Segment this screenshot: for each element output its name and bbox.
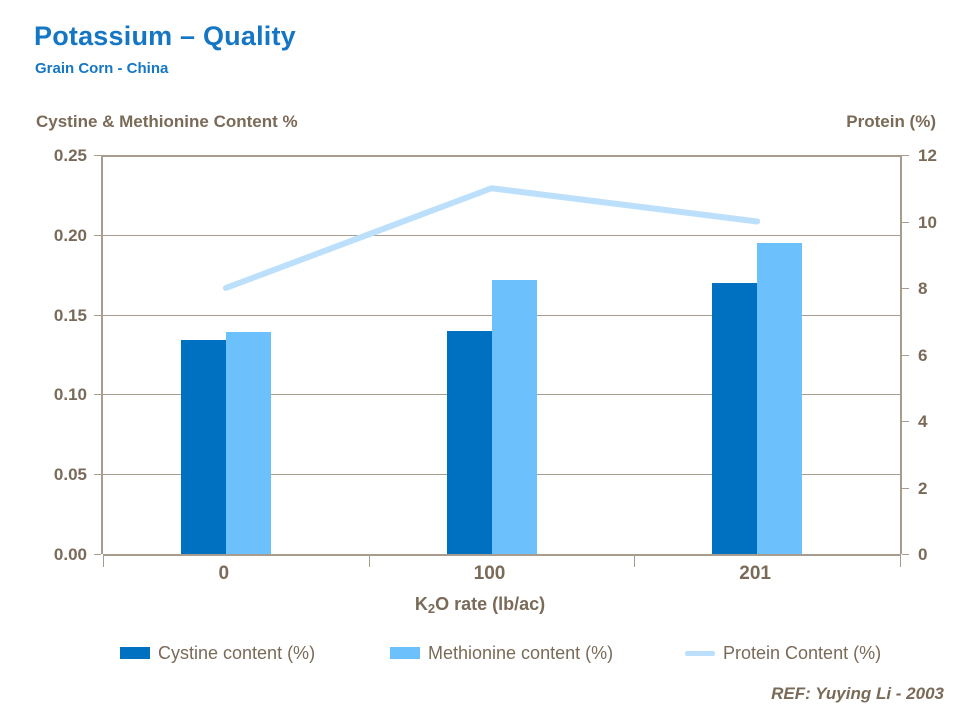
legend-item-2[interactable]: Methionine content (%) [390,640,613,666]
right-axis-tick-label: 4 [918,413,960,430]
left-axis-tick-label: 0.20 [9,227,87,244]
x-axis-tick [900,554,901,567]
left-axis-tick [94,155,101,156]
right-axis-tick-label: 12 [918,147,960,164]
x-axis-category-label: 100 [430,564,550,583]
right-axis-tick [902,488,909,489]
protein-line [226,188,757,288]
left-axis-tick-label: 0.15 [9,307,87,324]
legend-item-1[interactable]: Cystine content (%) [120,640,315,666]
right-axis-tick-label: 6 [918,347,960,364]
legend-item-3[interactable]: Protein Content (%) [685,640,881,666]
right-axis-tick-label: 2 [918,480,960,497]
legend-label: Protein Content (%) [723,643,881,664]
x-axis-title-sub: 2 [428,601,435,616]
right-axis-tick-label: 10 [918,214,960,231]
reference-note: REF: Yuying Li - 2003 [0,684,944,704]
legend-label: Cystine content (%) [158,643,315,664]
left-axis-tick-label: 0.10 [9,386,87,403]
left-axis-tick [94,554,101,555]
right-axis-tick [902,155,909,156]
chart-legend: Cystine content (%)Methionine content (%… [110,640,910,666]
right-axis-tick [902,421,909,422]
x-axis-category-label: 201 [695,564,815,583]
page-subtitle: Grain Corn - China [35,60,168,77]
left-axis-tick [94,474,101,475]
left-axis-tick [94,394,101,395]
legend-label: Methionine content (%) [428,643,613,664]
legend-swatch-line-icon [685,651,715,656]
right-axis-tick-label: 0 [918,546,960,563]
right-axis-tick [902,355,909,356]
right-axis-tick-label: 8 [918,280,960,297]
page-title: Potassium – Quality [34,21,296,52]
x-axis-tick [369,554,370,567]
right-axis-title: Protein (%) [760,112,936,132]
x-axis-title-pre: K [415,594,428,614]
x-axis-title-post: O rate (lb/ac) [435,594,545,614]
left-axis-tick-label: 0.25 [9,147,87,164]
right-axis-tick [902,554,909,555]
left-axis-tick-label: 0.00 [9,546,87,563]
left-axis-tick-label: 0.05 [9,466,87,483]
left-axis-tick [94,315,101,316]
left-axis-title: Cystine & Methionine Content % [36,112,298,132]
x-axis-tick [103,554,104,567]
protein-line-chart [103,155,900,554]
plot-area [101,155,902,554]
x-axis-tick [634,554,635,567]
right-axis-tick [902,222,909,223]
left-axis-tick [94,235,101,236]
legend-swatch-bar-icon [120,647,150,659]
x-axis-title: K2O rate (lb/ac) [0,594,960,615]
right-axis-tick [902,288,909,289]
legend-swatch-bar-icon [390,647,420,659]
gridline [103,554,900,556]
x-axis-category-label: 0 [164,564,284,583]
slide-canvas: Potassium – Quality Grain Corn - China C… [0,0,960,720]
